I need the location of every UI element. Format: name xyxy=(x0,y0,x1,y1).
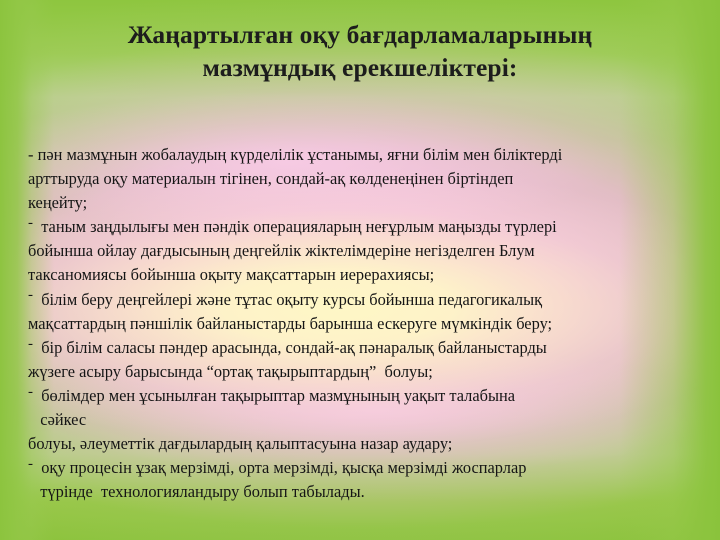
continuation-line: кеңейту; xyxy=(28,191,696,215)
continuation-line: сәйкес xyxy=(28,408,696,432)
title-line-2: мазмұндық ерекшеліктері: xyxy=(0,51,720,84)
title-line-1: Жаңартылған оқу бағдарламаларының xyxy=(0,18,720,51)
bullet-line: - бөлімдер мен ұсынылған тақырыптар мазм… xyxy=(28,384,696,408)
continuation-line: таксаномиясы бойынша оқыту мақсаттарын и… xyxy=(28,263,696,287)
continuation-line: бойынша ойлау дағдысының деңгейлік жікте… xyxy=(28,239,696,263)
bullet-text: мақсаттардың пәншілік байланыстарды бары… xyxy=(28,314,552,333)
bullet-text: таксаномиясы бойынша оқыту мақсаттарын и… xyxy=(28,265,434,284)
body-content: - пән мазмұнын жобалаудың күрделілік ұст… xyxy=(28,143,696,504)
bullet-text: бойынша ойлау дағдысының деңгейлік жікте… xyxy=(28,241,535,260)
bullet-text: жүзеге асыру барысында “ортақ тақырыптар… xyxy=(28,362,433,381)
bullet-line: - бір білім саласы пәндер арасында, сонд… xyxy=(28,336,696,360)
continuation-line: жүзеге асыру барысында “ортақ тақырыптар… xyxy=(28,360,696,384)
bullet-text: оқу процесін ұзақ мерзімді, орта мерзімд… xyxy=(33,458,526,477)
continuation-line: арттыруда оқу материалын тігінен, сондай… xyxy=(28,167,696,191)
bullet-text: сәйкес xyxy=(28,410,86,429)
bullet-line: - таным заңдылығы мен пәндік операциялар… xyxy=(28,215,696,239)
bullet-text: кеңейту; xyxy=(28,193,87,212)
bullet-text: бөлімдер мен ұсынылған тақырыптар мазмұн… xyxy=(33,386,515,405)
bullet-text: болуы, әлеуметтік дағдылардың қалыптасуы… xyxy=(28,434,452,453)
bullet-line: - пән мазмұнын жобалаудың күрделілік ұст… xyxy=(28,143,696,167)
continuation-line: түрінде технологияландыру болып табылады… xyxy=(28,480,696,504)
bullet-text: түрінде технологияландыру болып табылады… xyxy=(28,482,365,501)
slide-canvas: Жаңартылған оқу бағдарламаларының мазмұн… xyxy=(0,0,720,540)
bullet-text: білім беру деңгейлері және тұтас оқыту к… xyxy=(33,290,542,309)
bullet-line: - білім беру деңгейлері және тұтас оқыту… xyxy=(28,288,696,312)
bullet-text: таным заңдылығы мен пәндік операцияларың… xyxy=(33,217,557,236)
bullet-text: бір білім саласы пәндер арасында, сондай… xyxy=(33,338,547,357)
bullet-text: пән мазмұнын жобалаудың күрделілік ұстан… xyxy=(33,145,562,164)
bullet-text: арттыруда оқу материалын тігінен, сондай… xyxy=(28,169,513,188)
continuation-line: болуы, әлеуметтік дағдылардың қалыптасуы… xyxy=(28,432,696,456)
continuation-line: мақсаттардың пәншілік байланыстарды бары… xyxy=(28,312,696,336)
page-title: Жаңартылған оқу бағдарламаларының мазмұн… xyxy=(0,18,720,84)
bullet-line: - оқу процесін ұзақ мерзімді, орта мерзі… xyxy=(28,456,696,480)
